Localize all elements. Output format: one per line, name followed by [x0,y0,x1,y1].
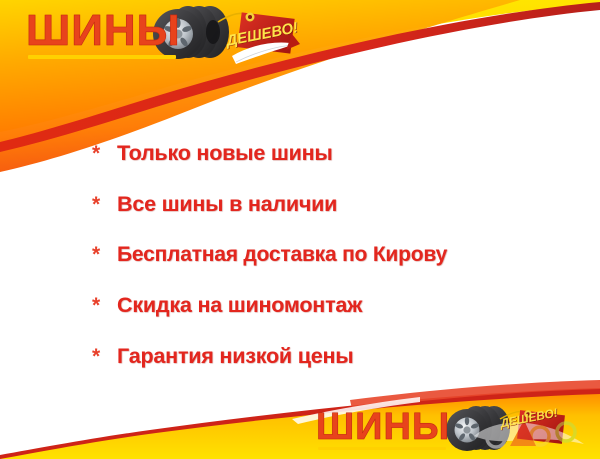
list-item-label: Гарантия низкой цены [117,341,353,371]
list-item: * Только новые шины [92,138,592,169]
list-item: * Бесплатная доставка по Кирову [92,240,592,270]
list-item: * Все шины в наличии [92,189,592,220]
list-item: * Скидка на шиномонтаж [92,290,592,321]
header-logo-text: ШИНЫ [26,8,181,54]
list-item: * Гарантия низкой цены [92,341,592,372]
bullet-marker-icon: * [92,342,117,372]
list-item-label: Все шины в наличии [117,189,337,219]
footer-logo-text: ШИНЫ [316,407,450,447]
bullet-marker-icon: * [92,291,117,321]
advertisement-poster: ШИНЫ ДЕШЕВО! * Только новые шины * Все ш… [0,0,600,459]
list-item-label: Бесплатная доставка по Кирову [117,240,447,270]
bullet-marker-icon: * [92,190,117,220]
bullet-marker-icon: * [92,240,117,270]
footer-logo-underline [318,447,446,450]
header-logo-underline [28,55,176,59]
bullet-marker-icon: * [92,139,117,169]
feature-list: * Только новые шины * Все шины в наличии… [92,138,592,392]
list-item-label: Скидка на шиномонтаж [117,290,362,320]
list-item-label: Только новые шины [117,138,333,168]
